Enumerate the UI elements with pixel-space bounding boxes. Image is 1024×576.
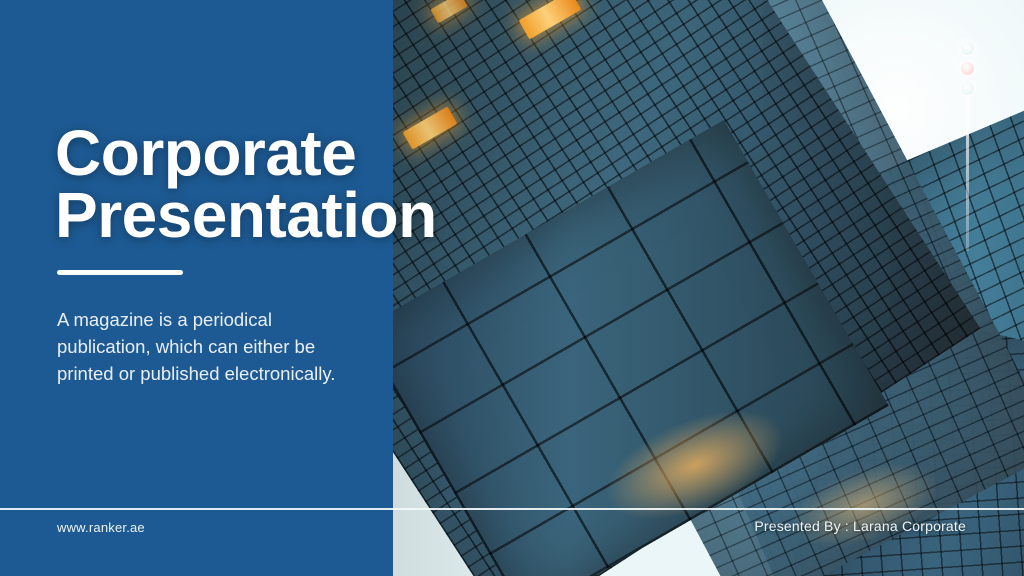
blue-side-panel: [0, 0, 393, 576]
slide-title: Corporate Presentation: [55, 122, 437, 246]
presentation-slide: Corporate Presentation A magazine is a p…: [0, 0, 1024, 576]
title-underline-rule: [57, 270, 183, 275]
footer-website[interactable]: www.ranker.ae: [57, 520, 145, 535]
footer-divider: [0, 508, 1024, 510]
slide-title-line-2: Presentation: [55, 184, 437, 246]
slide-title-line-1: Corporate: [55, 122, 437, 184]
slide-subtitle: A magazine is a periodical publication, …: [57, 306, 357, 387]
footer-presented-by: Presented By : Larana Corporate: [754, 518, 966, 534]
